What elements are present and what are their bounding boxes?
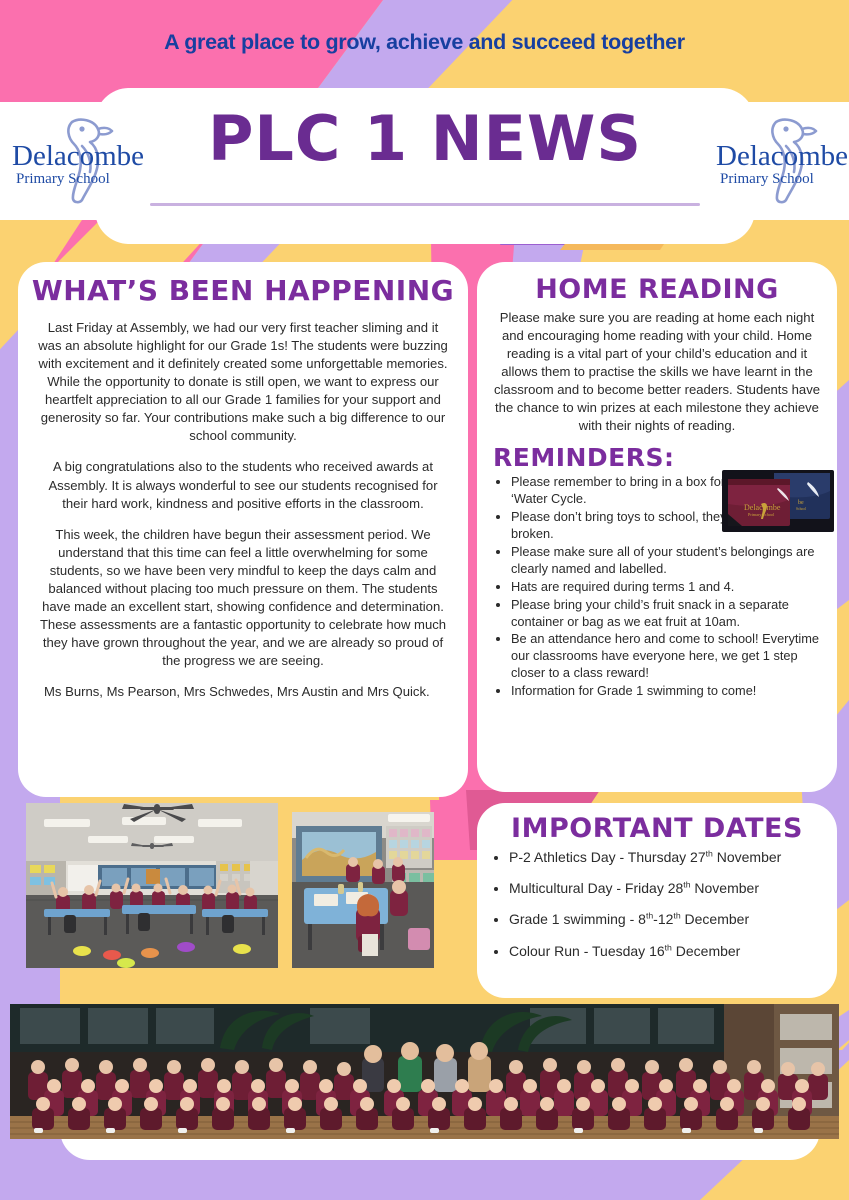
- svg-text:Primary School: Primary School: [748, 512, 775, 517]
- cohort-group-photo: [10, 1004, 839, 1139]
- home-reading-body: Please make sure you are reading at home…: [477, 309, 837, 435]
- school-logo-left: Delacombe Primary School: [8, 108, 148, 208]
- paragraph: This week, the children have begun their…: [38, 526, 448, 671]
- logo-name-text: Delacombe: [716, 140, 848, 172]
- list-item: Multicultural Day - Friday 28th November: [509, 879, 827, 897]
- whats-been-happening-body: Last Friday at Assembly, we had our very…: [18, 319, 468, 701]
- teacher-signoff: Ms Burns, Ms Pearson, Mrs Schwedes, Mrs …: [38, 683, 448, 701]
- svg-text:School: School: [796, 507, 806, 511]
- list-item: Grade 1 swimming - 8th-12th December: [509, 910, 827, 928]
- list-item: Colour Run - Tuesday 16th December: [509, 942, 827, 960]
- masthead-divider: [150, 203, 700, 206]
- classroom-table-photo: [292, 812, 434, 968]
- list-item: Please bring your child’s fruit snack in…: [511, 597, 825, 631]
- logo-subtitle-text: Primary School: [16, 171, 110, 187]
- whats-been-happening-title: WHAT’S BEEN HAPPENING: [18, 262, 468, 307]
- paragraph: Last Friday at Assembly, we had our very…: [38, 319, 448, 445]
- ordinal-suffix: th: [665, 942, 672, 952]
- logo-subtitle-text: Primary School: [720, 171, 814, 187]
- svg-text:be: be: [798, 500, 804, 506]
- list-item: P-2 Athletics Day - Thursday 27th Novemb…: [509, 848, 827, 866]
- important-dates-title: IMPORTANT DATES: [477, 803, 837, 844]
- logo-name-text: Delacombe: [12, 140, 144, 172]
- home-reading-title: HOME READING: [477, 262, 837, 305]
- list-item: Information for Grade 1 swimming to come…: [511, 683, 825, 700]
- ordinal-suffix: th: [673, 911, 680, 921]
- classroom-wide-photo: [26, 803, 278, 968]
- ordinal-suffix: th: [683, 880, 690, 890]
- list-item: Be an attendance hero and come to school…: [511, 631, 825, 682]
- list-item: Hats are required during terms 1 and 4.: [511, 579, 825, 596]
- important-dates-card: IMPORTANT DATES P-2 Athletics Day - Thur…: [477, 803, 837, 998]
- whats-been-happening-card: WHAT’S BEEN HAPPENING Last Friday at Ass…: [18, 262, 468, 797]
- school-tagline: A great place to grow, achieve and succe…: [0, 30, 849, 55]
- reminders-title: REMINDERS:: [477, 443, 837, 472]
- school-logo-right: Delacombe Primary School: [712, 108, 849, 208]
- list-item: Please make sure all of your student’s b…: [511, 544, 825, 578]
- page-title: PLC 1 NEWS: [95, 108, 755, 170]
- important-dates-list: P-2 Athletics Day - Thursday 27th Novemb…: [477, 848, 837, 960]
- book-bags-photo: be School Delacombe Primary School: [722, 470, 834, 532]
- paragraph: A big congratulations also to the studen…: [38, 458, 448, 512]
- ordinal-suffix: th: [706, 848, 713, 858]
